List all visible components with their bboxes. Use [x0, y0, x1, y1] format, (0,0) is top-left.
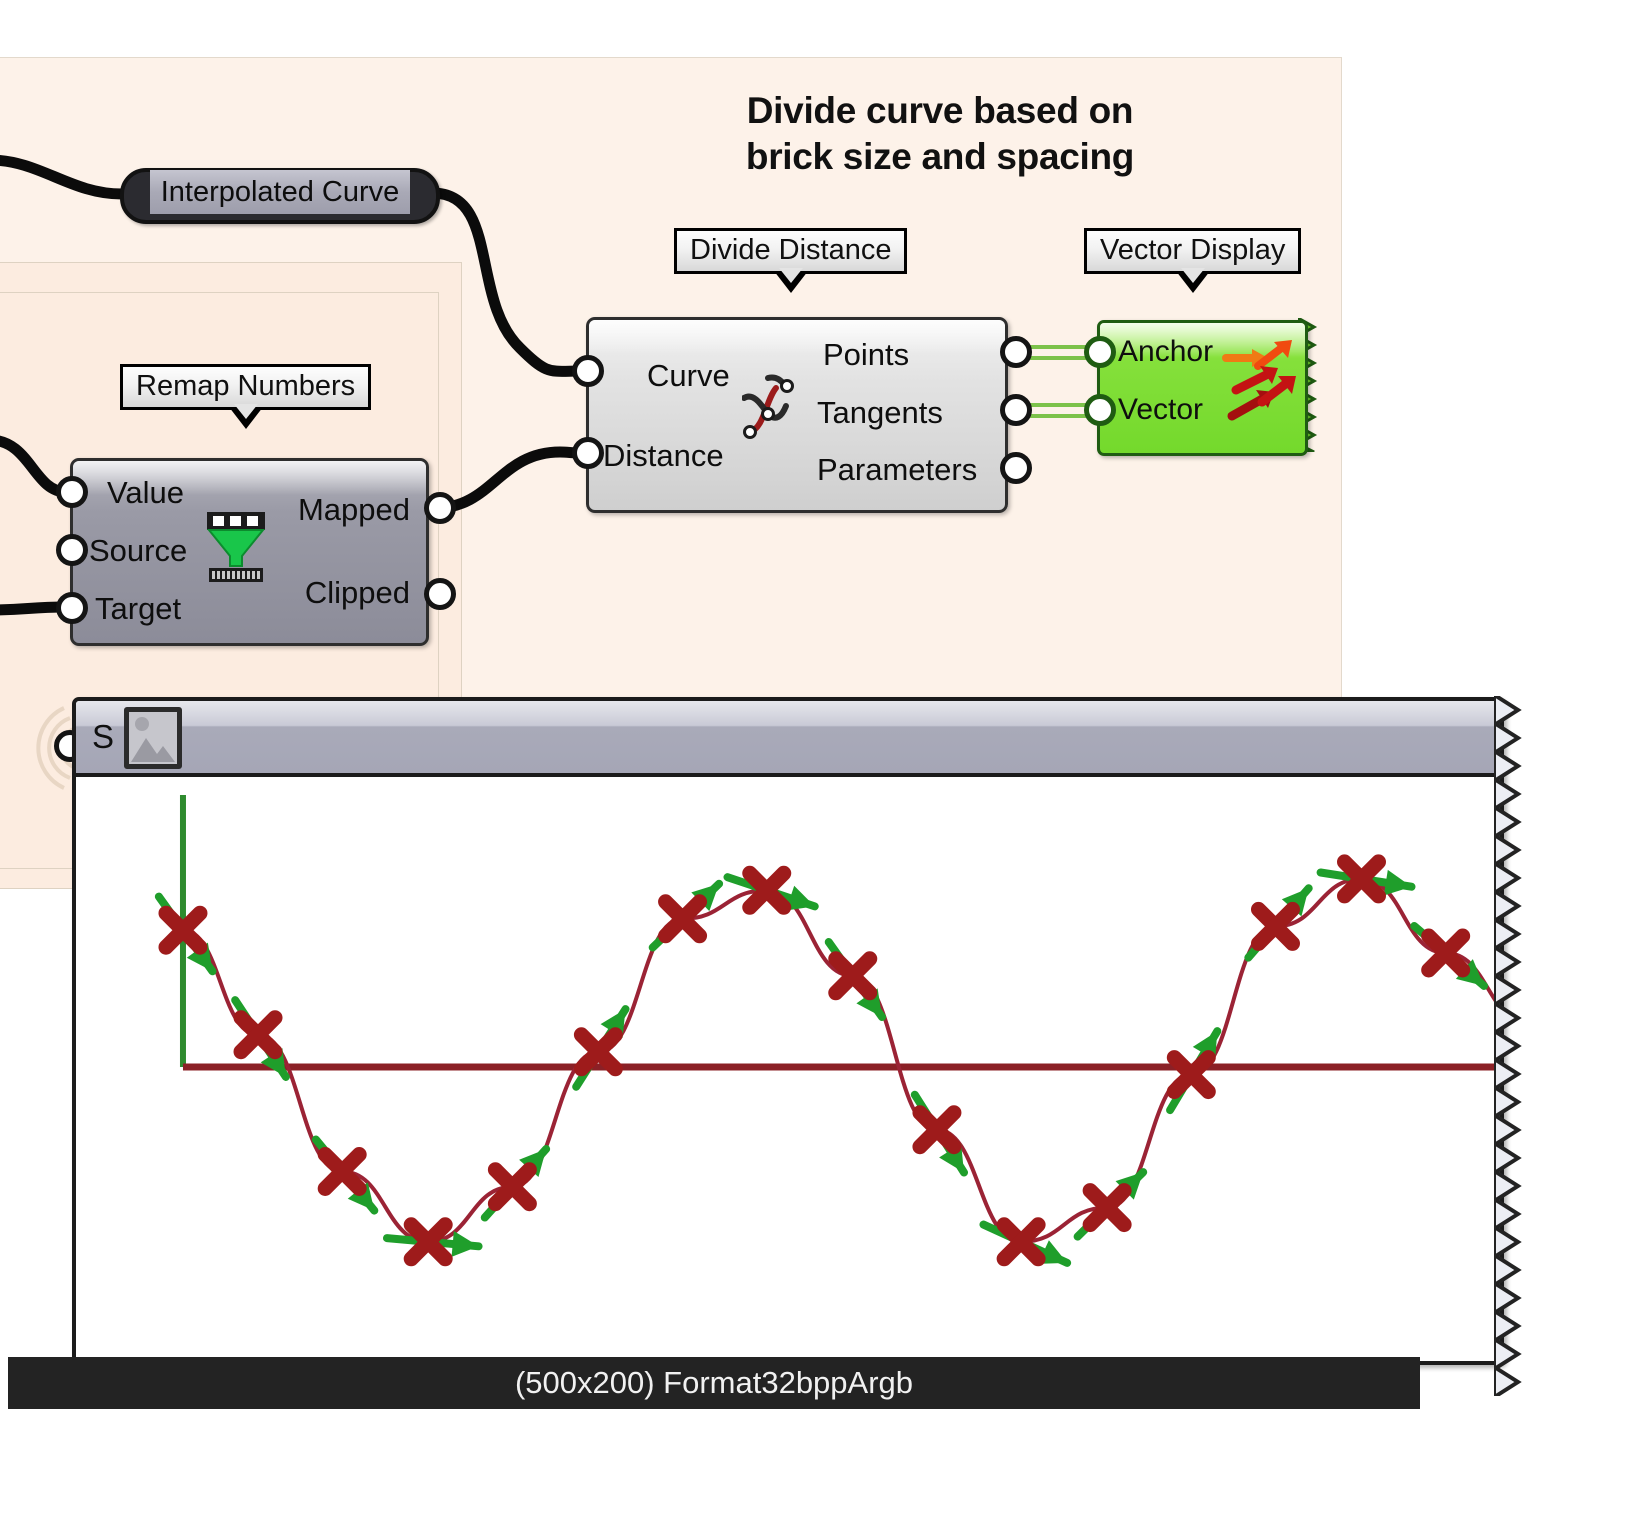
divide-input-curve: Curve [647, 358, 730, 394]
param-pill-label: Interpolated Curve [161, 176, 400, 209]
port-remap-value[interactable] [56, 476, 88, 508]
grasshopper-canvas: Divide curve based on brick size and spa… [0, 0, 1639, 1517]
port-divide-parameters[interactable] [1000, 452, 1032, 484]
image-preview-format-text: (500x200) Format32bppArgb [515, 1365, 913, 1401]
image-preview-header: S [76, 701, 1500, 777]
balloon-tail [774, 271, 808, 293]
balloon-divide-distance: Divide Distance [674, 228, 907, 293]
image-preview-zig-edge [1494, 696, 1524, 1396]
remap-output-mapped: Mapped [298, 492, 410, 528]
port-vector-vector[interactable] [1084, 394, 1116, 426]
image-preview-title-letter: S [92, 718, 114, 756]
divide-output-points: Points [823, 337, 909, 373]
port-remap-target[interactable] [56, 592, 88, 624]
wire-curve-to-divide [432, 193, 582, 371]
vector-input-vector: Vector [1118, 393, 1203, 427]
balloon-tail [1176, 271, 1210, 293]
remap-input-value: Value [107, 475, 184, 511]
wire-into-remap-value [0, 440, 66, 492]
image-preview-footer: (500x200) Format32bppArgb [8, 1357, 1420, 1409]
division-point-marker [1429, 936, 1463, 970]
port-remap-mapped[interactable] [424, 492, 456, 524]
wire-into-interpolated-curve [0, 160, 122, 194]
vector-arrows-icon [1222, 340, 1302, 424]
port-remap-clipped[interactable] [424, 578, 456, 610]
remap-input-target: Target [95, 591, 181, 627]
port-remap-source[interactable] [56, 534, 88, 566]
remap-output-clipped: Clipped [305, 575, 410, 611]
curve-division-plot [76, 777, 1496, 1277]
image-preview-canvas [76, 777, 1496, 1277]
port-divide-distance[interactable] [572, 437, 604, 469]
remap-input-source: Source [89, 533, 187, 569]
division-point-marker [241, 1018, 275, 1052]
port-divide-points[interactable] [1000, 336, 1032, 368]
divide-input-distance: Distance [603, 438, 724, 474]
port-divide-curve[interactable] [572, 355, 604, 387]
balloon-vector-display: Vector Display [1084, 228, 1301, 293]
division-point-marker [1174, 1058, 1208, 1092]
divide-output-parameters: Parameters [817, 452, 977, 488]
port-divide-tangents[interactable] [1000, 394, 1032, 426]
balloon-remap-numbers: Remap Numbers [120, 364, 371, 429]
param-pill-face: Interpolated Curve [150, 170, 410, 214]
image-preview-panel[interactable]: S [72, 697, 1504, 1365]
divide-curve-icon [742, 370, 804, 442]
division-point-marker [836, 959, 870, 993]
port-vector-anchor[interactable] [1084, 336, 1116, 368]
node-sheen [589, 320, 1005, 354]
division-point-marker [920, 1113, 954, 1147]
image-thumbnail-icon [124, 707, 182, 769]
balloon-tail [229, 407, 263, 429]
remap-funnel-icon [203, 512, 269, 582]
param-interpolated-curve[interactable]: Interpolated Curve [120, 168, 440, 224]
vector-input-anchor: Anchor [1118, 335, 1213, 369]
divide-output-tangents: Tangents [817, 395, 943, 431]
wire-mapped-to-distance [436, 452, 582, 508]
